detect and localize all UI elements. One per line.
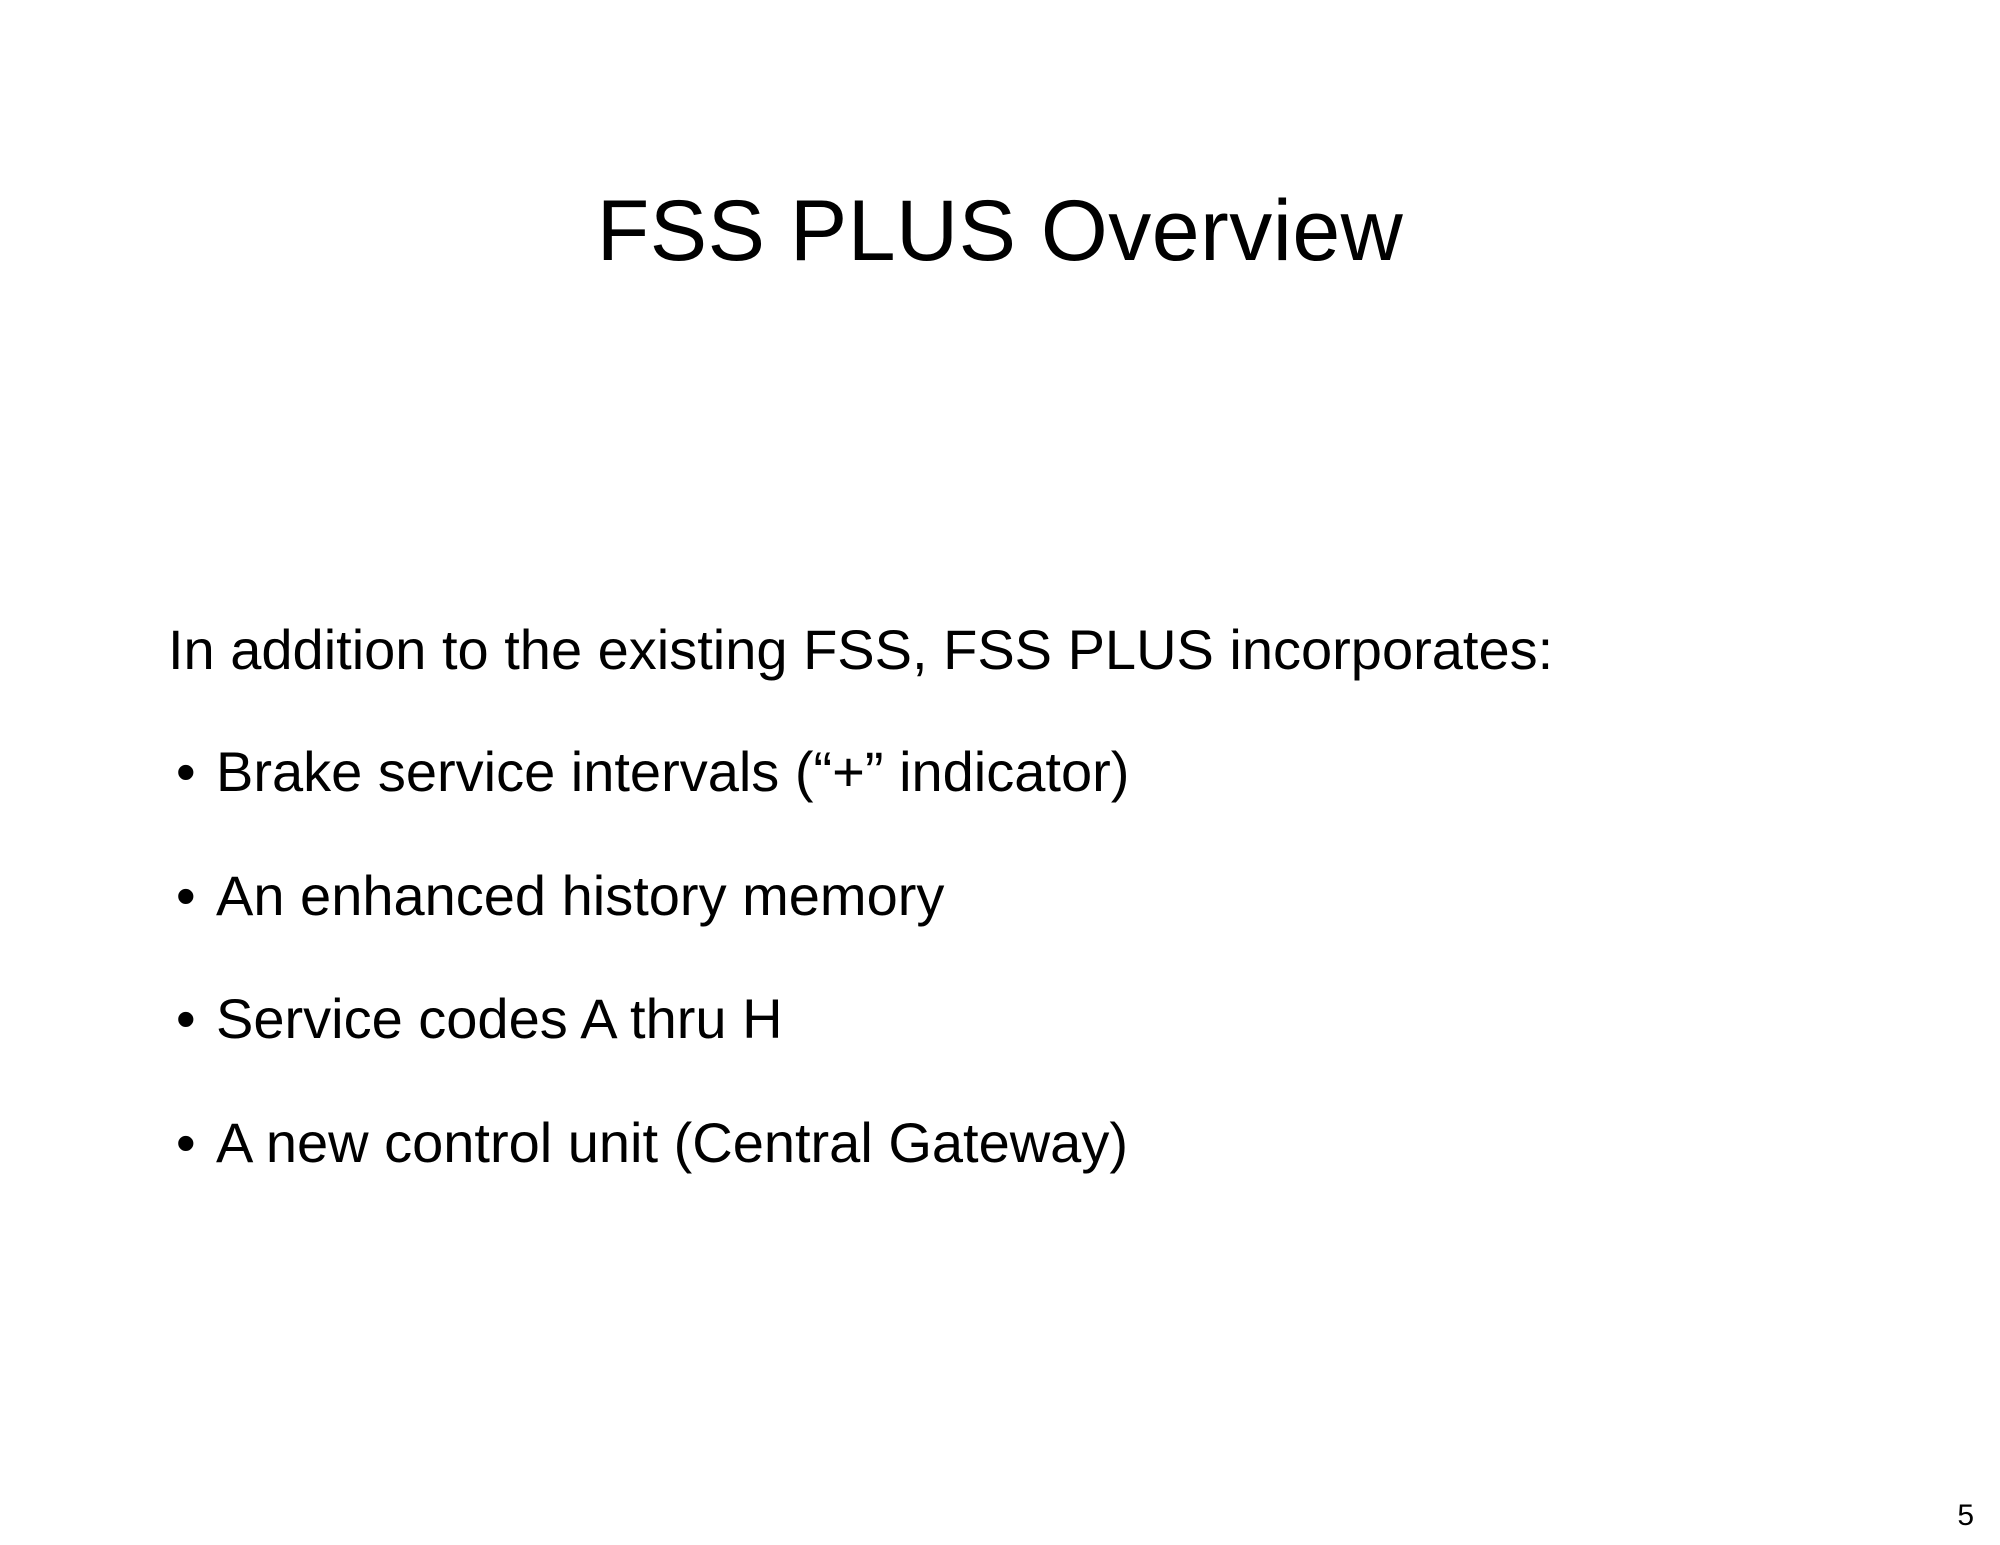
slide-body: In addition to the existing FSS, FSS PLU… — [168, 620, 1880, 1173]
list-item: • Brake service intervals (“+” indicator… — [168, 742, 1880, 802]
list-item-label: Brake service intervals (“+” indicator) — [216, 740, 1129, 803]
page-number: 5 — [1957, 1501, 1974, 1531]
intro-text: In addition to the existing FSS, FSS PLU… — [168, 620, 1880, 680]
bullet-dot-icon: • — [176, 742, 196, 802]
bullet-dot-icon: • — [176, 989, 196, 1049]
slide: FSS PLUS Overview In addition to the exi… — [0, 0, 2000, 1545]
list-item-label: A new control unit (Central Gateway) — [216, 1111, 1128, 1174]
bullet-list: • Brake service intervals (“+” indicator… — [168, 742, 1880, 1173]
list-item: • A new control unit (Central Gateway) — [168, 1113, 1880, 1173]
page-title: FSS PLUS Overview — [0, 186, 2000, 276]
list-item-label: An enhanced history memory — [216, 864, 944, 927]
list-item: • An enhanced history memory — [168, 866, 1880, 926]
bullet-dot-icon: • — [176, 866, 196, 926]
list-item-label: Service codes A thru H — [216, 987, 783, 1050]
list-item: • Service codes A thru H — [168, 989, 1880, 1049]
bullet-dot-icon: • — [176, 1113, 196, 1173]
